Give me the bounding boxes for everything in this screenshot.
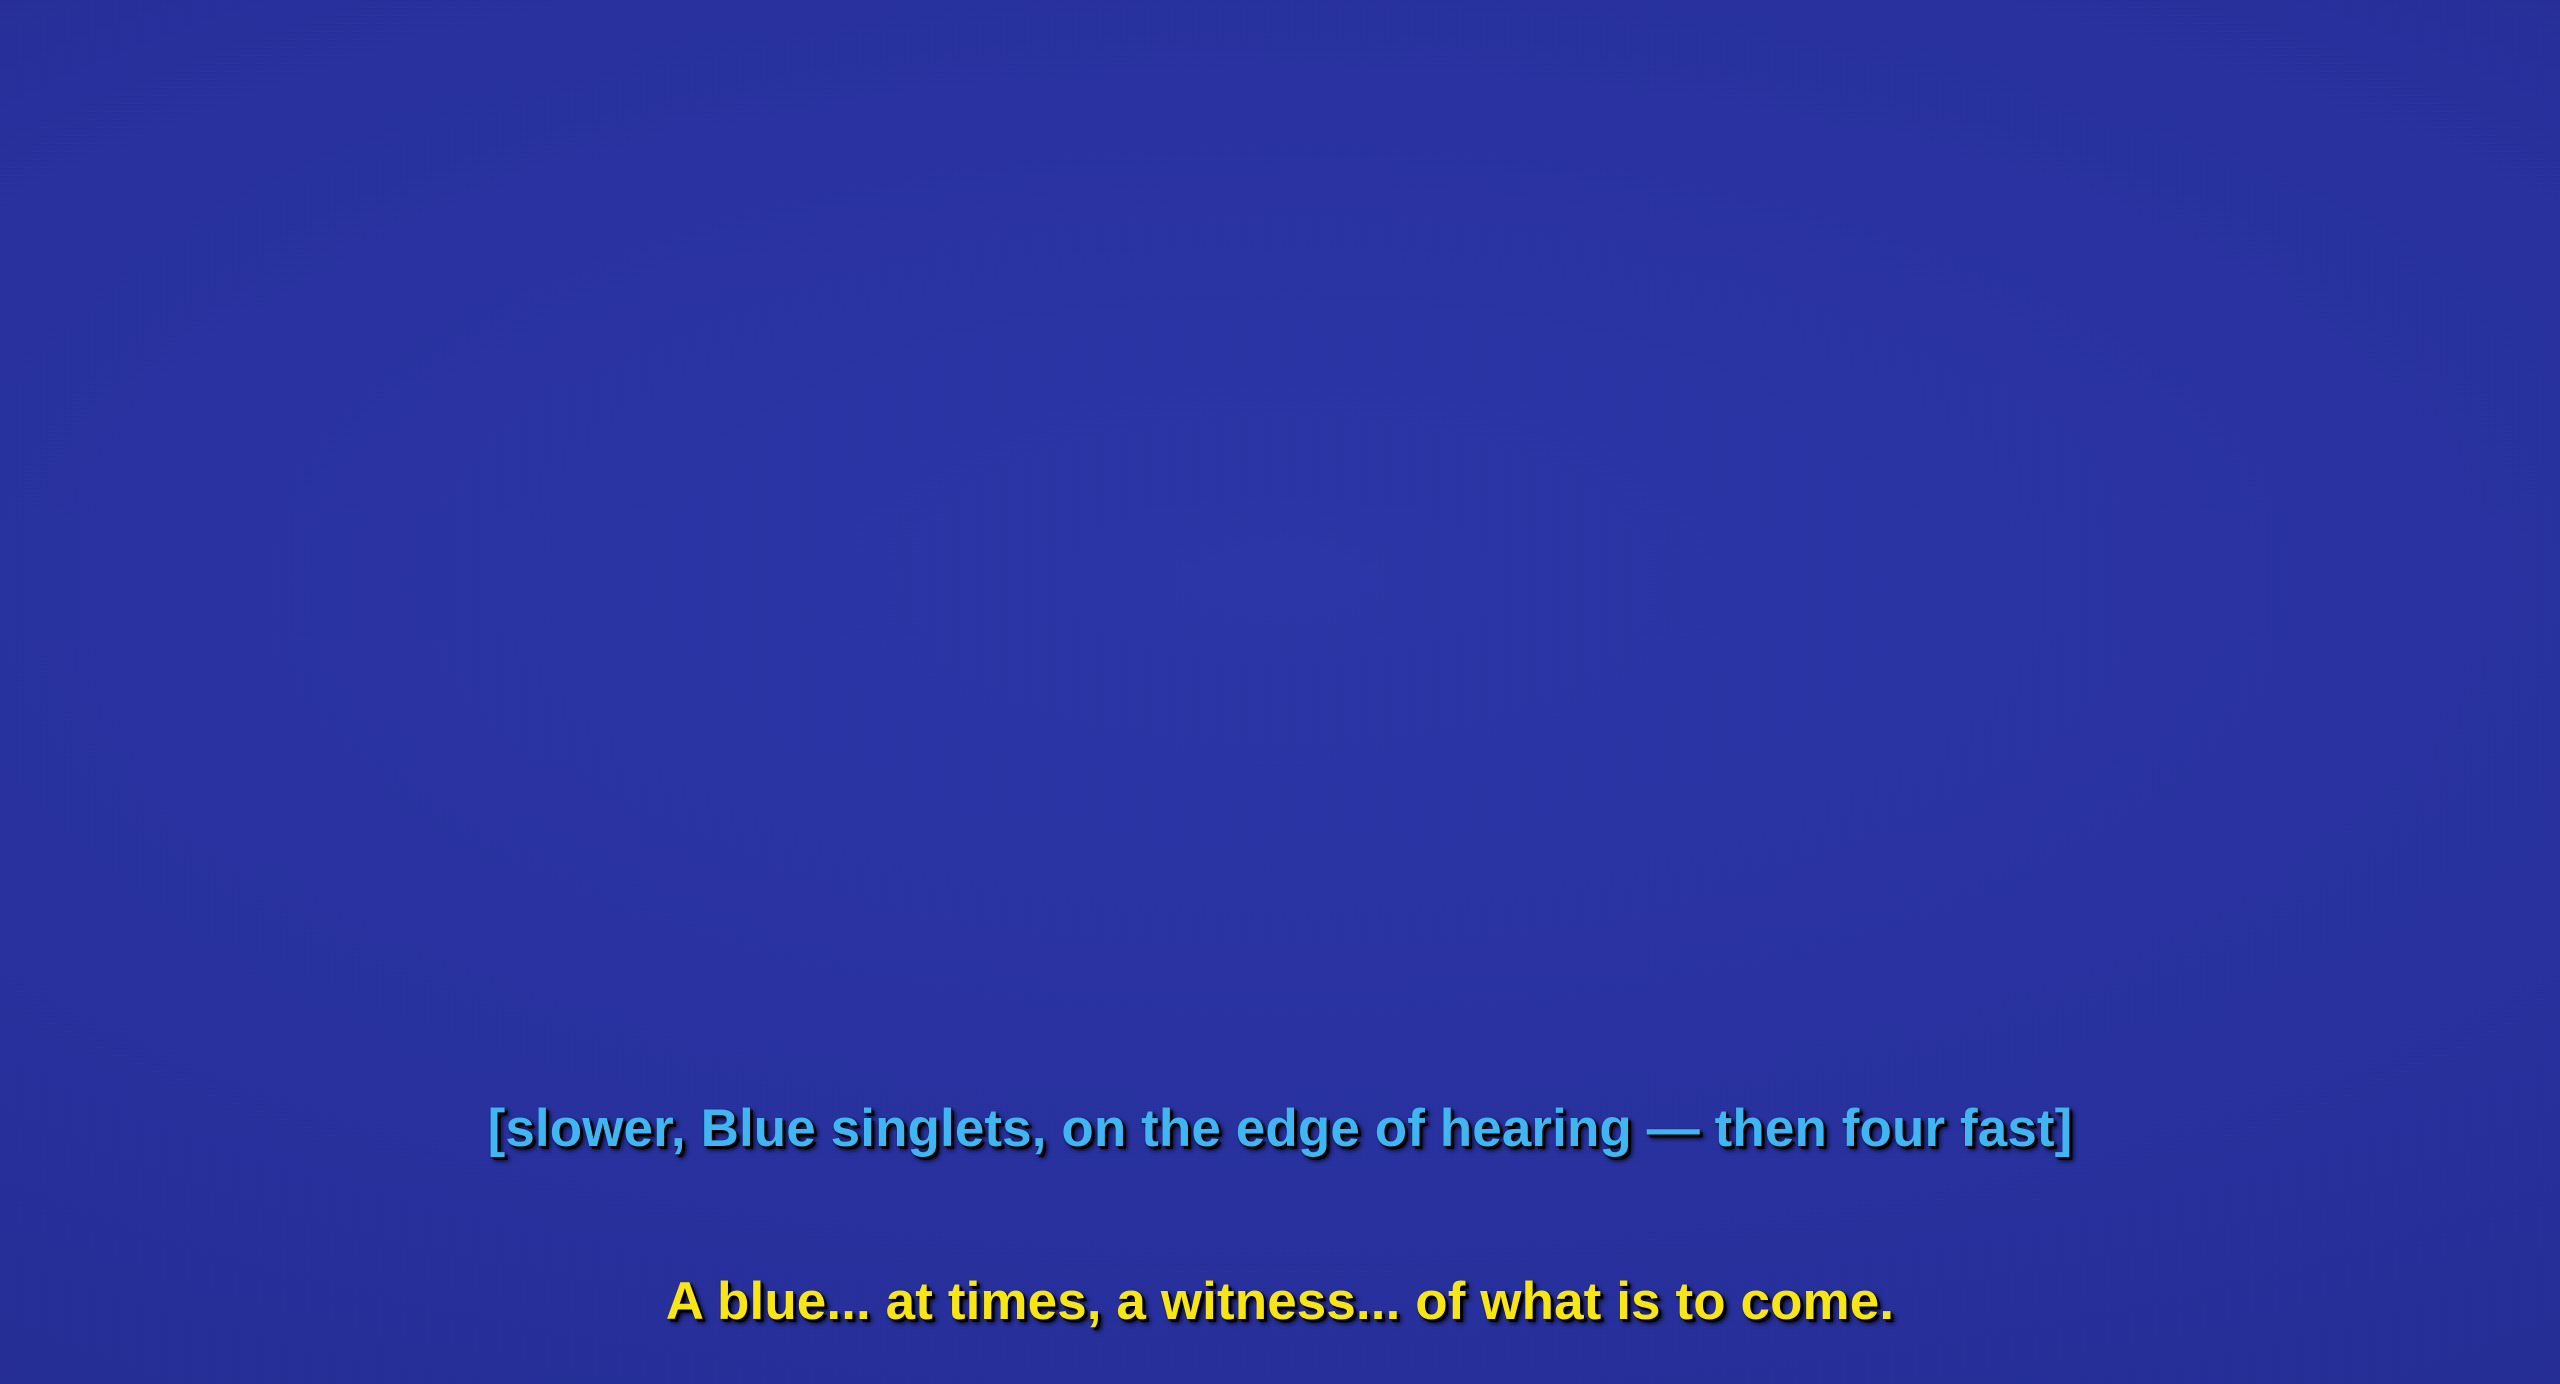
- caption-dialogue: A blue... at times, a witness... of what…: [0, 1273, 2560, 1330]
- caption-sound-description: [slower, Blue singlets, on the edge of h…: [0, 1100, 2560, 1157]
- video-frame: [slower, Blue singlets, on the edge of h…: [0, 0, 2560, 1384]
- caption-area: [slower, Blue singlets, on the edge of h…: [0, 1024, 2560, 1384]
